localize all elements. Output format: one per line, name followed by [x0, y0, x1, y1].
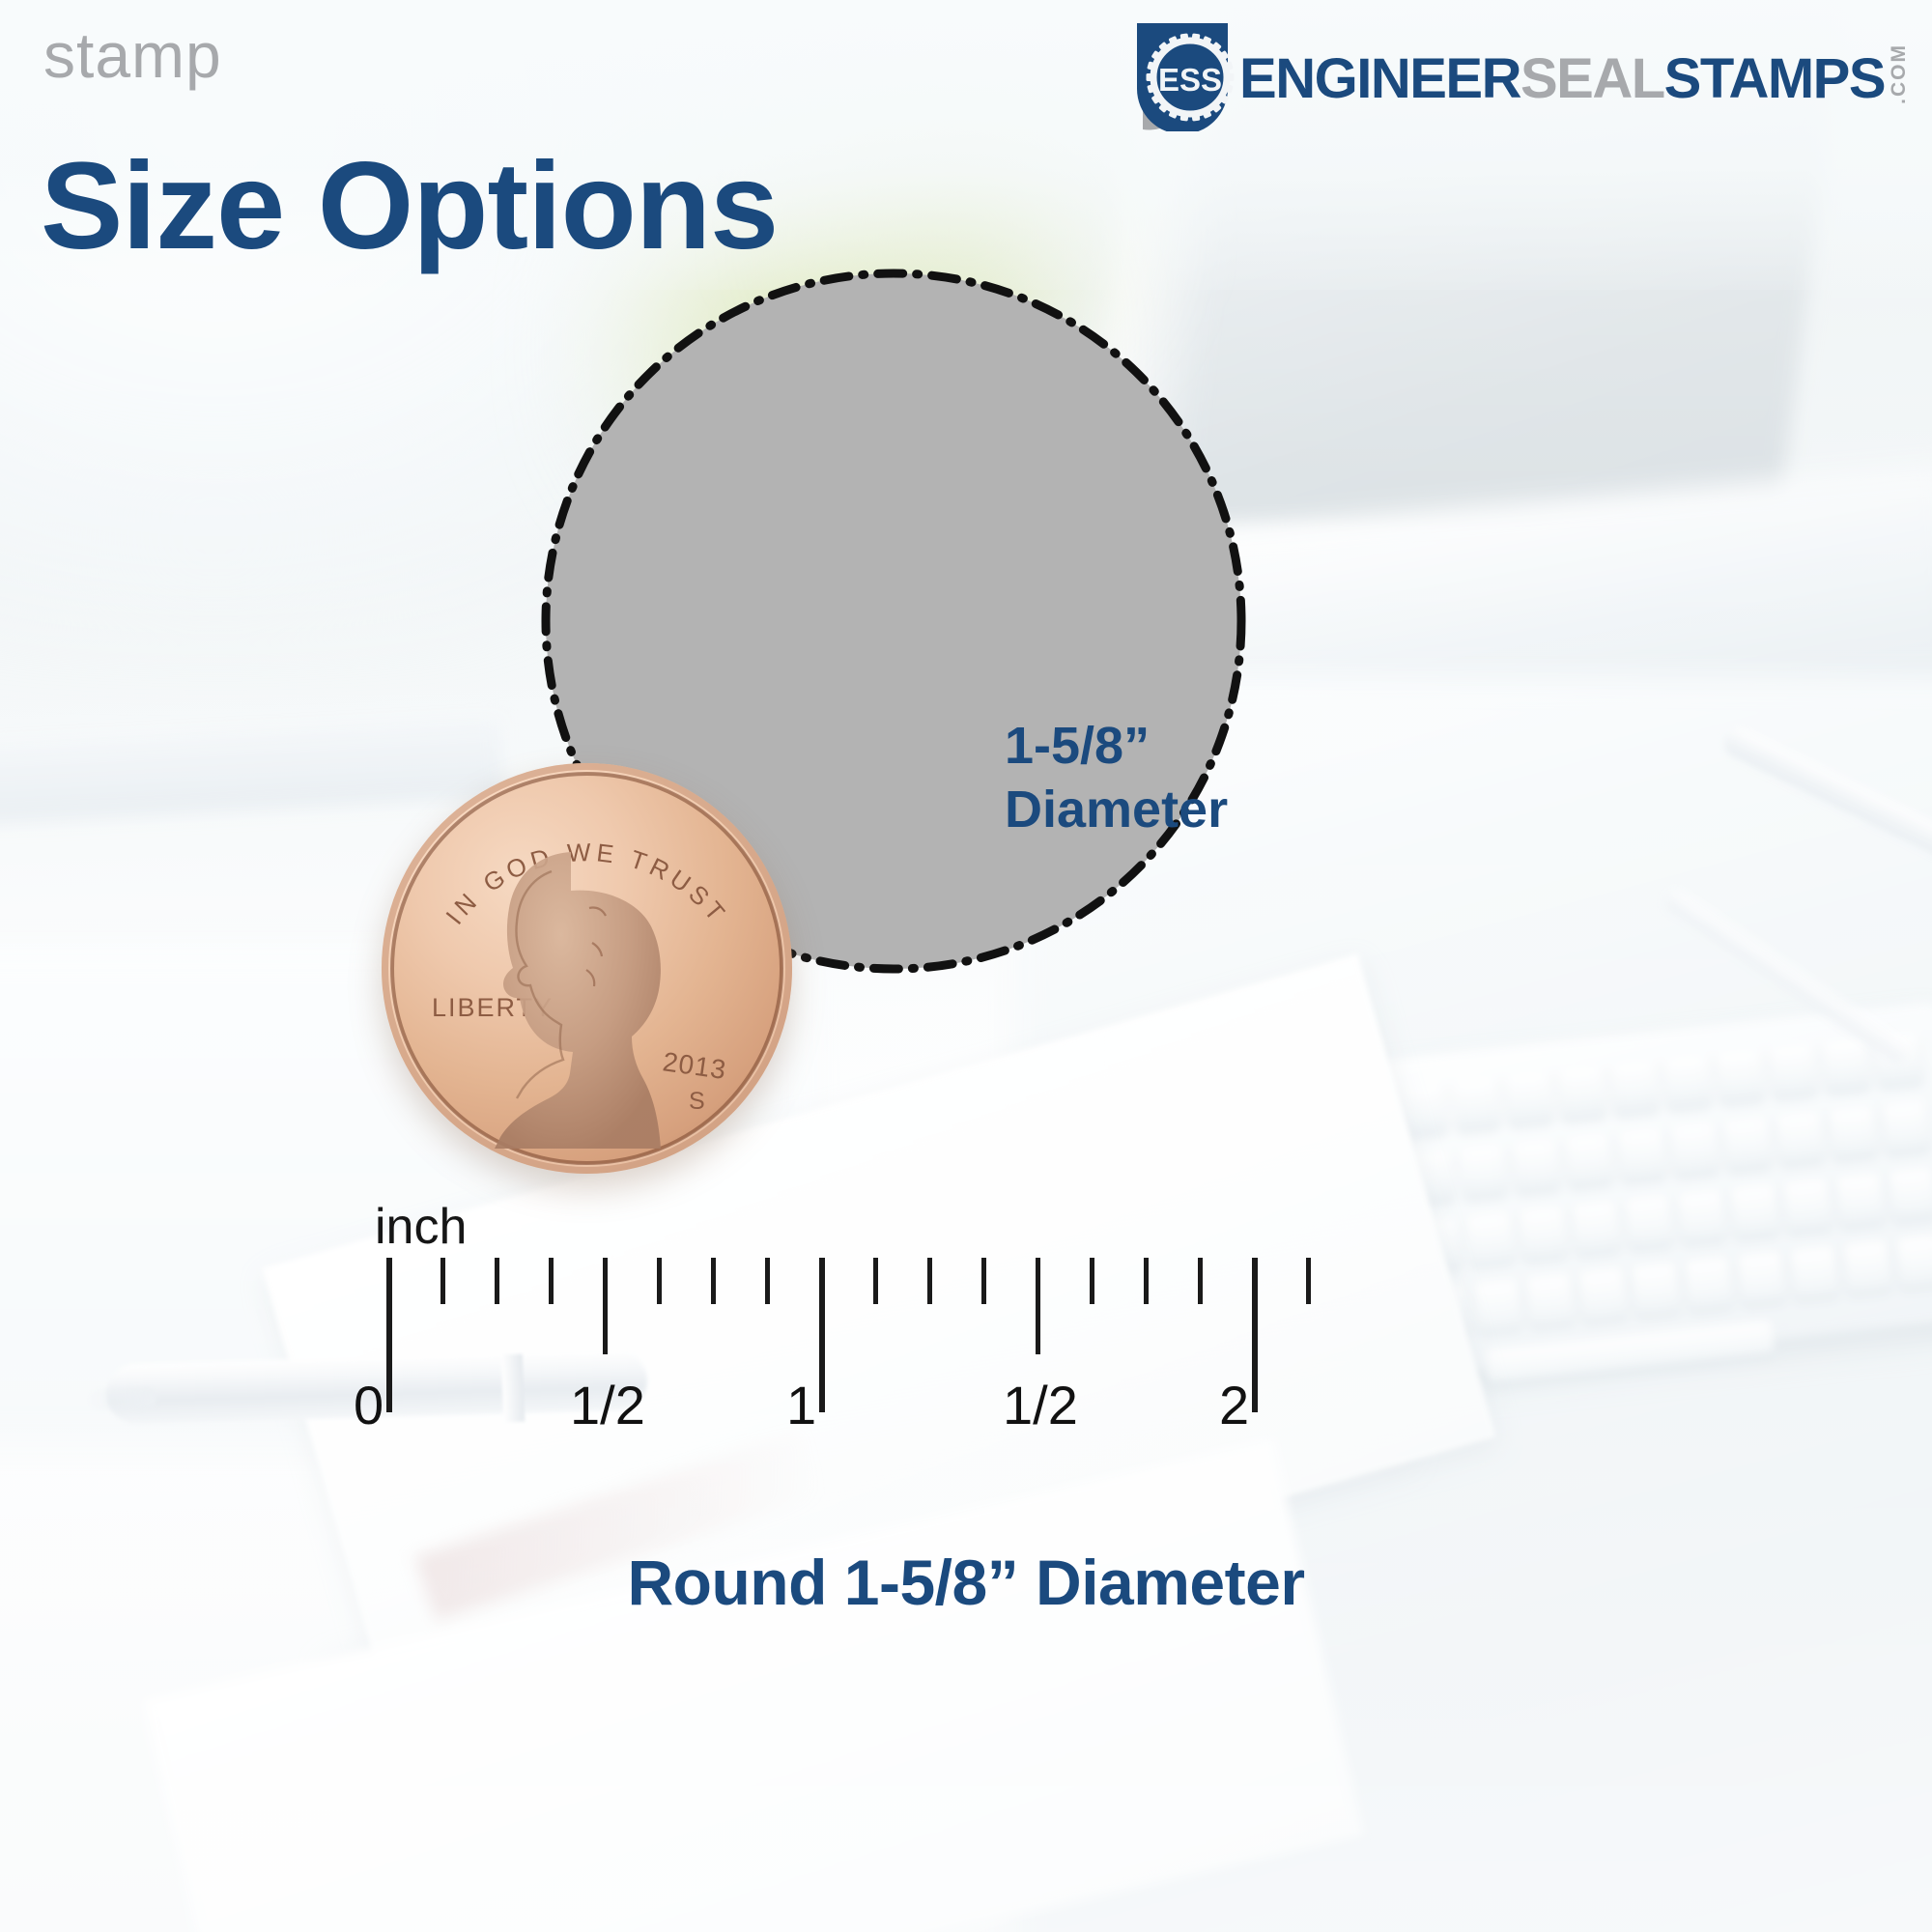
ruler-tick	[873, 1258, 878, 1304]
ruler-unit-label: inch	[375, 1198, 467, 1256]
inch-ruler: inch 01/211/22	[0, 1198, 1932, 1449]
ruler-tick	[386, 1258, 392, 1412]
logo-word-stamps: STAMPS	[1664, 52, 1885, 105]
ruler-tick	[495, 1258, 499, 1304]
logo-word-seal: SEAL	[1520, 52, 1664, 105]
ruler-tick	[603, 1258, 608, 1354]
coin-mint-mark: S	[689, 1088, 705, 1115]
ruler-tick	[1144, 1258, 1149, 1304]
size-label-line2: Diameter	[1005, 779, 1410, 842]
ess-badge-text: ESS	[1158, 62, 1222, 98]
ruler-tick	[549, 1258, 554, 1304]
ruler-tick	[1036, 1258, 1040, 1354]
penny-coin: IN GOD WE TRUST LIBERTY 2013 S	[382, 763, 792, 1174]
ruler-tick	[440, 1258, 445, 1304]
size-label-line1: 1-5/8”	[1005, 715, 1410, 779]
ruler-tick	[927, 1258, 932, 1304]
ruler-tick	[1306, 1258, 1311, 1304]
ess-gear-badge-icon: ESS	[1131, 17, 1245, 131]
ruler-label: 0	[354, 1374, 384, 1436]
ruler-tick	[819, 1258, 825, 1412]
ruler-label: 1/2	[1003, 1374, 1078, 1436]
ruler-tick	[711, 1258, 716, 1304]
ruler-tick	[981, 1258, 986, 1304]
brand-logo[interactable]: ESS ENGINEER SEAL STAMPS .COM	[1131, 17, 1909, 131]
ruler-label: 2	[1219, 1374, 1249, 1436]
page-title: Size Options	[41, 145, 778, 269]
ruler-tick	[1198, 1258, 1203, 1304]
ruler-tick	[657, 1258, 662, 1304]
size-label: 1-5/8” Diameter	[1005, 715, 1410, 842]
logo-word-engineer: ENGINEER	[1239, 52, 1520, 105]
logo-word-com: .COM	[1889, 43, 1909, 104]
ruler-tick	[1252, 1258, 1258, 1412]
ruler-label: 1	[786, 1374, 816, 1436]
eyebrow-label: stamp	[43, 23, 222, 87]
coin-year: 2013	[661, 1046, 728, 1085]
ruler-label: 1/2	[570, 1374, 645, 1436]
size-options-graphic: stamp Size Options ESS ENGINEER SEAL STA	[0, 0, 1932, 1932]
ruler-tick	[1090, 1258, 1094, 1304]
size-caption: Round 1-5/8” Diameter	[0, 1546, 1932, 1619]
ruler-tick	[765, 1258, 770, 1304]
